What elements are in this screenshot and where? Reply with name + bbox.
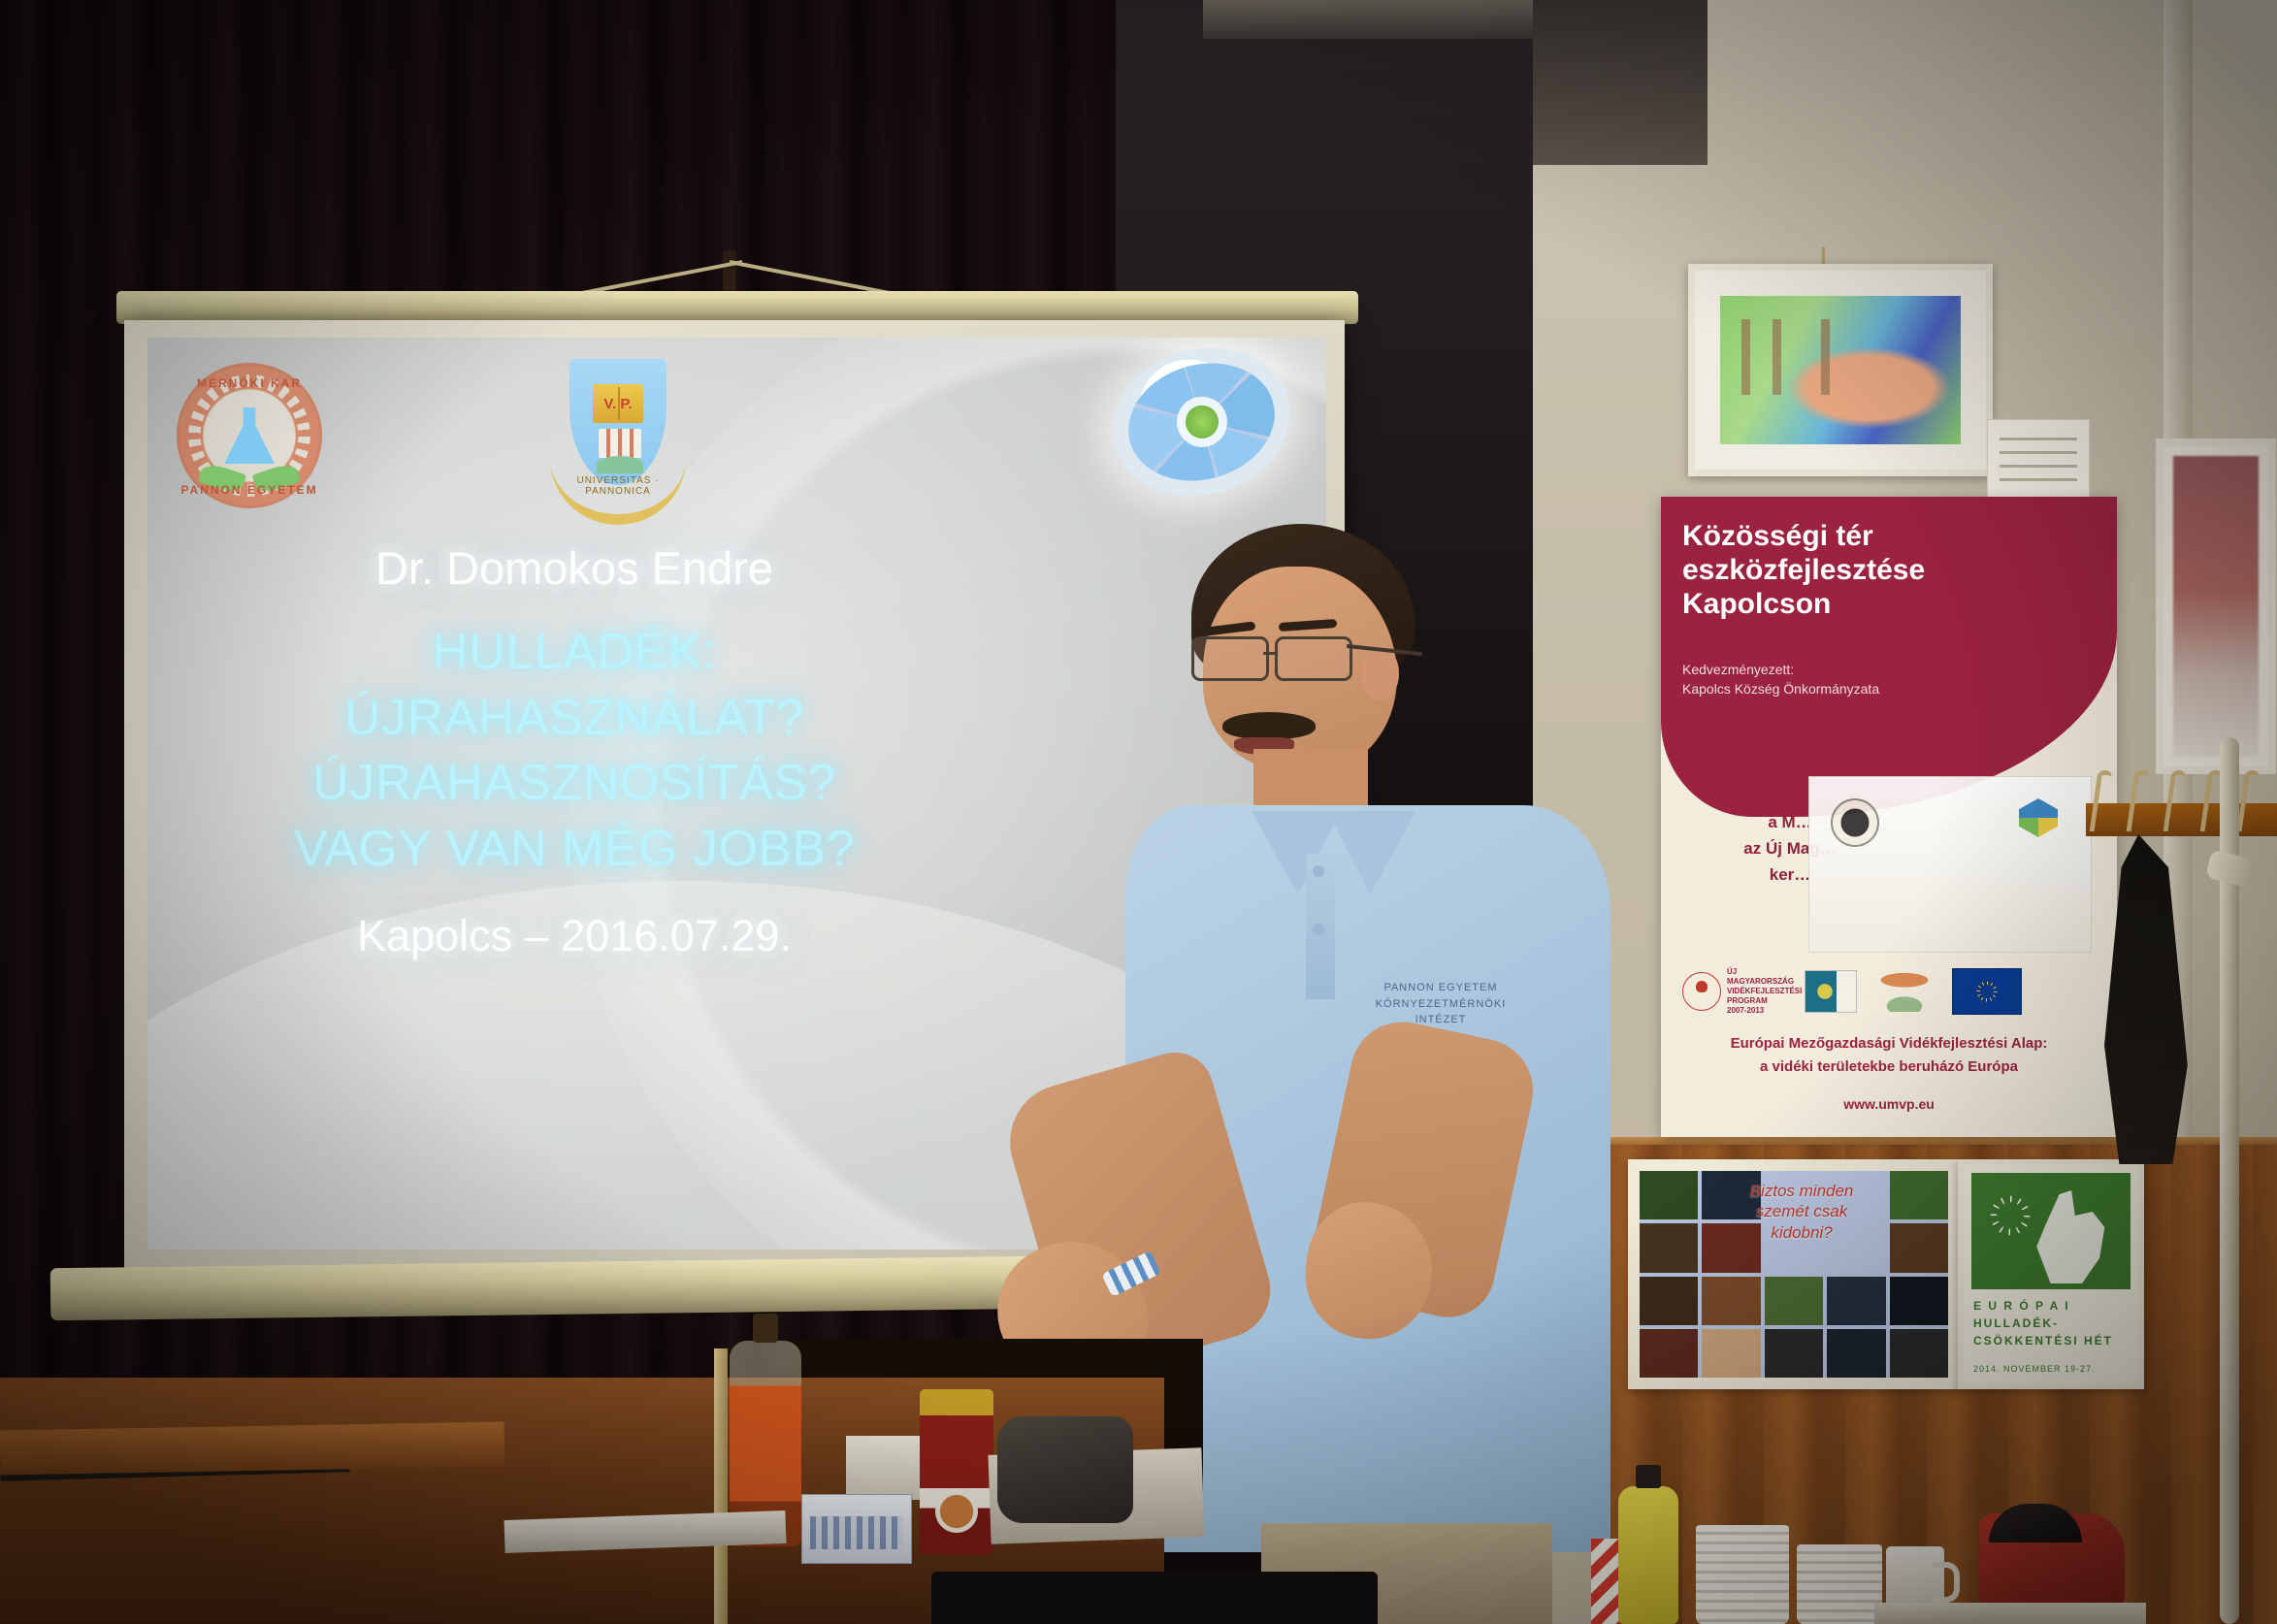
- poster-photo-collage: Biztos minden szemét csak kidobni?: [1628, 1159, 1960, 1389]
- blue-white-tin: [801, 1494, 912, 1564]
- bottle-cap: [1636, 1465, 1661, 1488]
- red-gold-can: [920, 1389, 993, 1554]
- lens-right: [1275, 636, 1352, 681]
- castle-towers-icon: [599, 429, 641, 458]
- slide-author: Dr. Domokos Endre: [147, 541, 1001, 595]
- logo-label-1: ÚJ MAGYARORSZÁG: [1727, 967, 1802, 987]
- deer-pastel-drawing: [1688, 264, 1993, 476]
- poster-kozossegi-ter: Közösségi tér eszközfejlesztése Kapolcso…: [1661, 497, 2117, 1137]
- bottle-cap: [753, 1314, 778, 1343]
- glasses: [1191, 636, 1376, 679]
- lens-left: [1191, 636, 1269, 681]
- glasses-bridge: [1263, 652, 1277, 655]
- green-poster-title: E U R Ó P A I HULLADÉK- CSÖKKENTÉSI HÉT: [1973, 1297, 2131, 1349]
- shirt-logo-text: PANNON EGYETEM KÖRNYEZETMÉRNÖKI INTÉZET: [1358, 980, 1523, 1028]
- slide-logo-row: MÉRNÖKI KAR PANNON EGYETEM V. P. UNIVERS…: [147, 345, 1326, 539]
- yellow-bottle: [1618, 1486, 1678, 1624]
- poster-beneficiary: Kedvezményezett: Kapolcs Község Önkormán…: [1682, 660, 2002, 699]
- presentation-photo-scene: MÉRNÖKI KAR PANNON EGYETEM V. P. UNIVERS…: [0, 0, 2277, 1624]
- cup-stack: [1696, 1525, 1789, 1624]
- logo-label-2: VIDÉKFEJLESZTÉSI PROGRAM: [1727, 987, 1802, 1006]
- poster-footer-line-2: a vidéki területekbe beruházó Európa: [1661, 1056, 2117, 1079]
- crest-banner-text: UNIVERSITAS · PANNONICA: [550, 475, 686, 497]
- tree-trunk: [1821, 319, 1830, 395]
- poster-url: www.umvp.eu: [1661, 1096, 2117, 1112]
- white-box: [846, 1436, 920, 1500]
- logo-ring-top-text: MÉRNÖKI KAR: [177, 376, 322, 390]
- small-white-notice: [1987, 419, 2090, 506]
- shirt-button: [1313, 865, 1324, 877]
- poster-heading: Közösségi tér eszközfejlesztése Kapolcso…: [1682, 520, 2002, 621]
- tulip-icon: [1682, 972, 1721, 1011]
- beneficiary-label: Kedvezményezett:: [1682, 660, 2002, 679]
- poster-logo-row: ÚJ MAGYARORSZÁG VIDÉKFEJLESZTÉSI PROGRAM…: [1682, 964, 2090, 1019]
- red-kettle: [1979, 1513, 2125, 1610]
- table-top-left: [0, 1421, 504, 1475]
- screen-roller-top: [116, 291, 1358, 324]
- green-title-line-2: HULLADÉK-: [1973, 1315, 2131, 1332]
- slide-title-line-3: ÚJRAHASZNOSÍTÁS?: [147, 751, 1001, 817]
- serving-tray: [1874, 1603, 2146, 1624]
- slide-place-date: Kapolcs – 2016.07.29.: [147, 911, 1001, 961]
- hexagon-icon: [2019, 798, 2058, 837]
- cup-stack: [1797, 1544, 1882, 1624]
- tall-frame-artwork: [2173, 456, 2259, 757]
- moustache: [1222, 712, 1316, 739]
- mernoki-kar-logo: MÉRNÖKI KAR PANNON EGYETEM: [177, 363, 322, 508]
- leader-logo: [1805, 970, 1857, 1013]
- eu-stars-icon: [1985, 1190, 2035, 1241]
- slide-title-line-4: VAGY VAN MÉG JOBB?: [147, 817, 1001, 883]
- shirt-logo-line-2: KÖRNYEZETMÉRNÖKI: [1358, 996, 1523, 1013]
- wooden-pole: [714, 1348, 728, 1624]
- tree-trunk: [1741, 319, 1750, 395]
- green-logo-box: [1971, 1173, 2131, 1289]
- caption-line-1: Biztos minden: [1729, 1181, 1874, 1201]
- universitas-pannonica-crest: V. P. UNIVERSITAS · PANNONICA: [550, 351, 686, 521]
- dark-object: [997, 1416, 1133, 1523]
- caption-line-2: szemét csak: [1729, 1201, 1874, 1221]
- shirt-button: [1313, 924, 1324, 935]
- poster-footer: Európai Mezőgazdasági Vidékfejlesztési A…: [1661, 1032, 2117, 1079]
- green-title-line-3: CSÖKKENTÉSI HÉT: [1973, 1332, 2131, 1349]
- slide-title-line-2: ÚJRAHASZNÁLAT?: [147, 686, 1001, 752]
- slide-title-line-1: HULLADÉK:: [147, 620, 1001, 686]
- screen-hook: [723, 250, 736, 291]
- eu-flag-icon: [1952, 968, 2022, 1015]
- seal-icon: [1831, 798, 1879, 847]
- poster-inset-photo: [1808, 776, 2092, 953]
- rainbow-arc-logo: [1872, 971, 1936, 1012]
- caption-line-3: kidobni?: [1729, 1222, 1874, 1243]
- logo-ring-bottom-text: PANNON EGYETEM: [177, 483, 322, 497]
- logo-label-3: 2007-2013: [1727, 1006, 1802, 1016]
- beneficiary-name: Kapolcs Község Önkormányzata: [1682, 679, 2002, 698]
- uj-magyarorszag-logo: ÚJ MAGYARORSZÁG VIDÉKFEJLESZTÉSI PROGRAM…: [1682, 970, 1789, 1013]
- poster-europai-hulladek-het: E U R Ó P A I HULLADÉK- CSÖKKENTÉSI HÉT …: [1958, 1159, 2144, 1389]
- slide-text-block: Dr. Domokos Endre HULLADÉK: ÚJRAHASZNÁLA…: [147, 541, 1001, 961]
- green-title-line-1: E U R Ó P A I: [1973, 1297, 2131, 1315]
- tree-trunk: [1773, 319, 1781, 395]
- tall-narrow-frame: [2156, 438, 2276, 774]
- collage-caption: Biztos minden szemét csak kidobni?: [1729, 1181, 1874, 1243]
- segmented-globe-logo: [1095, 338, 1308, 517]
- upper-wall-shadow: [1533, 0, 1708, 165]
- shirt-logo-line-1: PANNON EGYETEM: [1358, 980, 1523, 996]
- crest-initials: V. P.: [593, 384, 643, 423]
- hand-icon: [2030, 1186, 2117, 1283]
- monitor-back: [931, 1572, 1378, 1624]
- green-poster-date: 2014. NOVEMBER 19-27.: [1973, 1364, 2096, 1374]
- framed-artwork: [1720, 296, 1961, 444]
- poster-footer-line-1: Európai Mezőgazdasági Vidékfejlesztési A…: [1661, 1032, 2117, 1056]
